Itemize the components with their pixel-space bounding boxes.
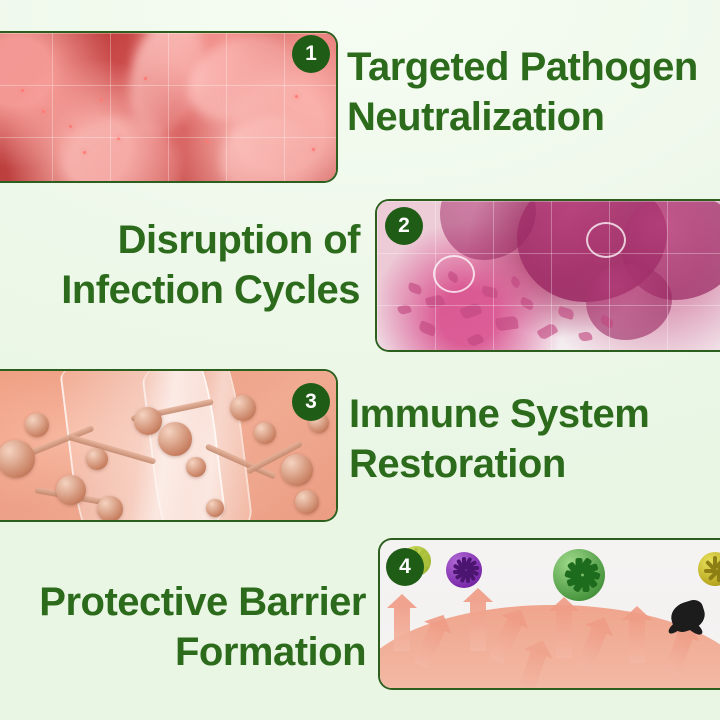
step-row-3: 3 Immune System Restoration	[0, 357, 720, 525]
step-row-1: 1 Targeted Pathogen Neutralization	[0, 0, 720, 185]
step-4-artwork	[380, 540, 720, 688]
step-3-image-card	[0, 369, 338, 522]
step-3-artwork	[0, 371, 336, 520]
step-2-title: Disruption of Infection Cycles	[0, 215, 360, 316]
step-1-artwork	[0, 33, 336, 181]
infographic-root: 1 Targeted Pathogen Neutralization	[0, 0, 720, 720]
step-2-image-card	[375, 199, 720, 352]
step-4-title: Protective Barrier Formation	[0, 577, 366, 678]
pathogen-purple-virus	[446, 552, 482, 588]
pathogen-yellow-right	[698, 552, 720, 586]
pathogen-green-coronavirus	[553, 549, 605, 601]
step-3-badge: 3	[292, 383, 330, 421]
step-1-image-card	[0, 31, 338, 183]
step-row-2: 2 Disruption of Infection Cycles	[0, 185, 720, 357]
step-row-4: 4 Protective Barrier Formation	[0, 525, 720, 720]
step-3-title: Immune System Restoration	[349, 389, 720, 490]
step-2-artwork	[377, 201, 720, 350]
step-4-image-card	[378, 538, 720, 690]
step-1-badge: 1	[292, 35, 330, 73]
step-2-badge: 2	[385, 207, 423, 245]
step-1-title: Targeted Pathogen Neutralization	[347, 42, 720, 143]
step-4-badge: 4	[386, 548, 424, 586]
